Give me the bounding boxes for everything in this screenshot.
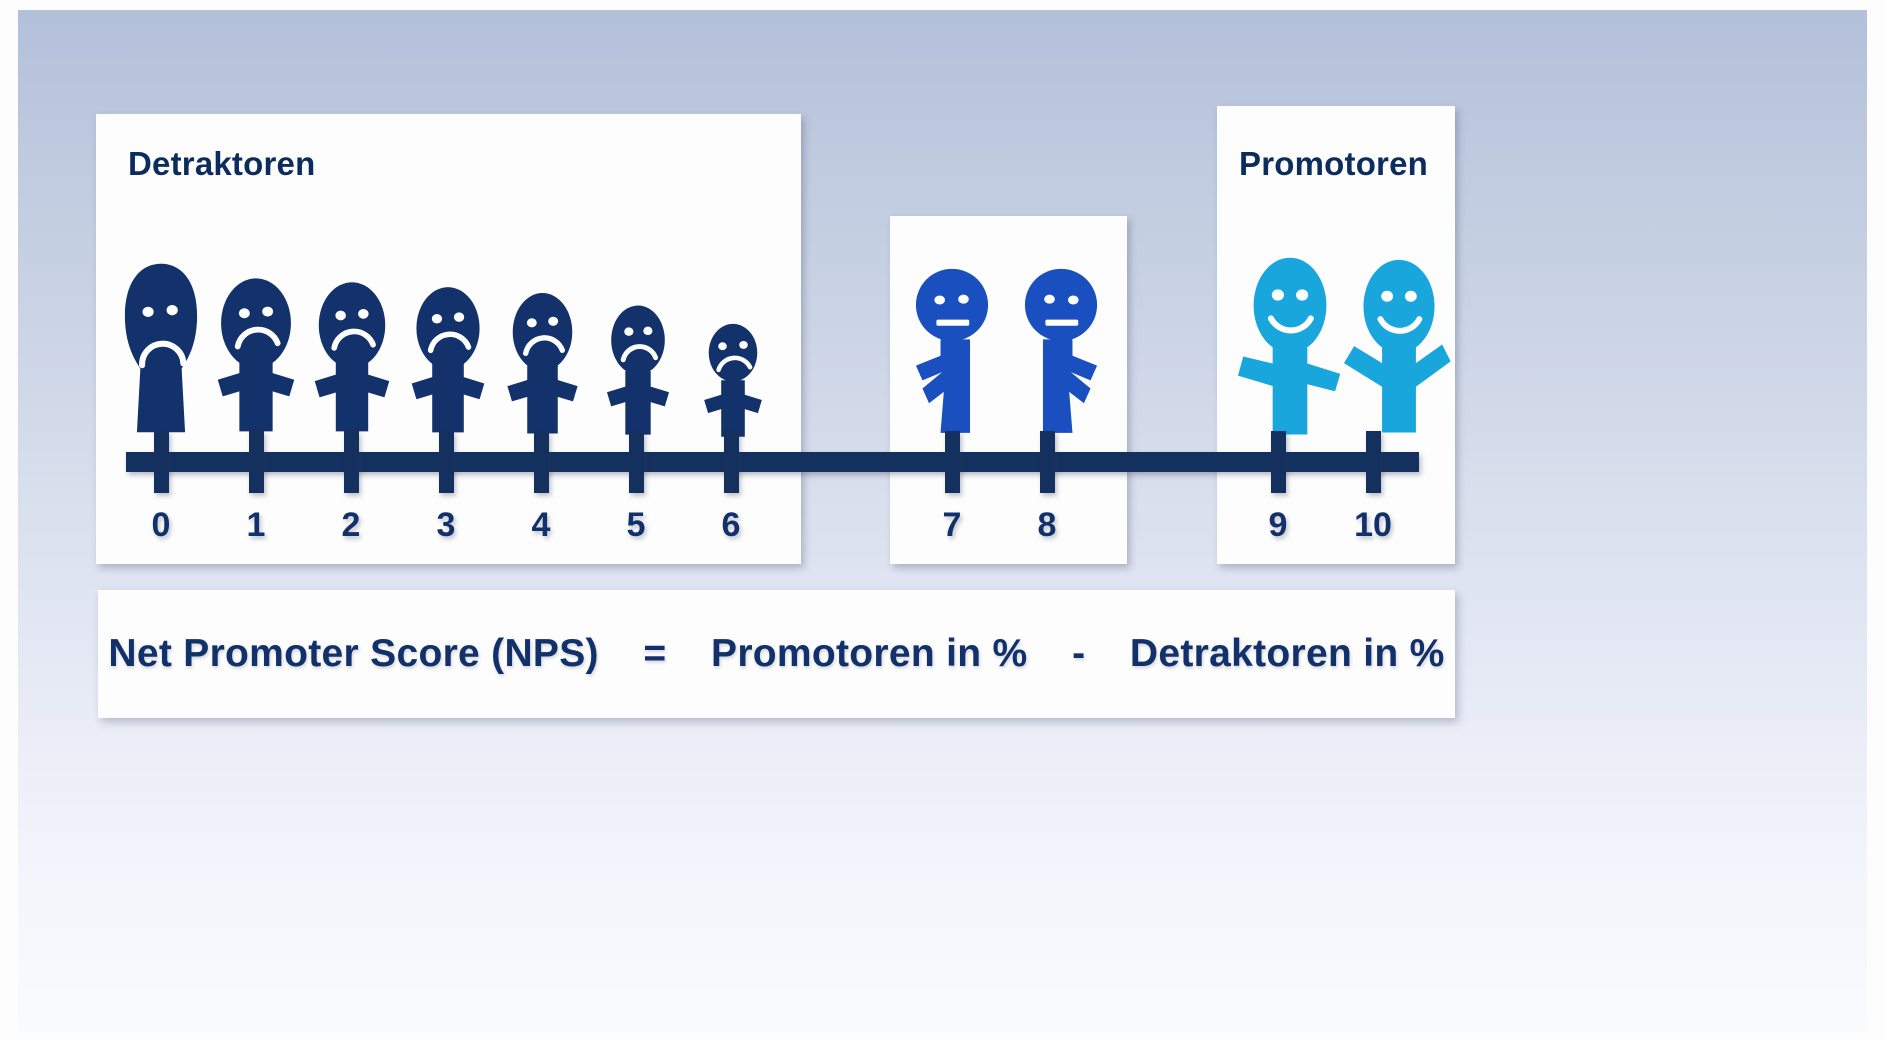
axis-tick-4 [534, 431, 549, 493]
sad-person-icon-6 [696, 320, 770, 438]
score-axis-line [126, 452, 1419, 472]
axis-tick-1 [249, 431, 264, 493]
axis-label-7: 7 [922, 506, 982, 545]
axis-label-5: 5 [606, 506, 666, 545]
nps-formula-text: Net Promoter Score (NPS) = Promotoren in… [108, 632, 1444, 676]
nps-infographic: Detraktoren Promotoren [0, 0, 1885, 1040]
axis-label-8: 8 [1017, 506, 1077, 545]
neutral-person-icon-7 [911, 260, 993, 440]
axis-label-1: 1 [226, 506, 286, 545]
formula-panel: Net Promoter Score (NPS) = Promotoren in… [98, 590, 1455, 718]
axis-tick-6 [724, 431, 739, 493]
axis-label-10: 10 [1343, 506, 1403, 545]
promoters-title: Promotoren [1239, 145, 1428, 183]
sad-person-icon-1 [214, 275, 298, 433]
axis-label-6: 6 [701, 506, 761, 545]
axis-label-2: 2 [321, 506, 381, 545]
axis-tick-3 [439, 431, 454, 493]
sad-person-icon-3 [408, 284, 488, 434]
axis-tick-10 [1366, 431, 1381, 493]
axis-tick-2 [344, 431, 359, 493]
axis-tick-5 [629, 431, 644, 493]
axis-tick-0 [154, 431, 169, 493]
sad-person-icon-2 [311, 279, 393, 433]
sad-person-icon-0 [118, 262, 204, 434]
axis-tick-9 [1271, 431, 1286, 493]
sad-person-icon-4 [503, 290, 582, 435]
happy-person-icon-9 [1238, 253, 1342, 441]
axis-label-0: 0 [131, 506, 191, 545]
detractors-title: Detraktoren [128, 145, 315, 183]
gradient-canvas: Detraktoren Promotoren [18, 10, 1867, 1032]
axis-label-9: 9 [1248, 506, 1308, 545]
axis-label-4: 4 [511, 506, 571, 545]
happy-person-icon-10 [1344, 253, 1454, 441]
sad-person-icon-5 [600, 302, 676, 436]
axis-label-3: 3 [416, 506, 476, 545]
axis-tick-8 [1040, 431, 1055, 493]
axis-tick-7 [945, 431, 960, 493]
neutral-person-icon-8 [1020, 260, 1102, 440]
